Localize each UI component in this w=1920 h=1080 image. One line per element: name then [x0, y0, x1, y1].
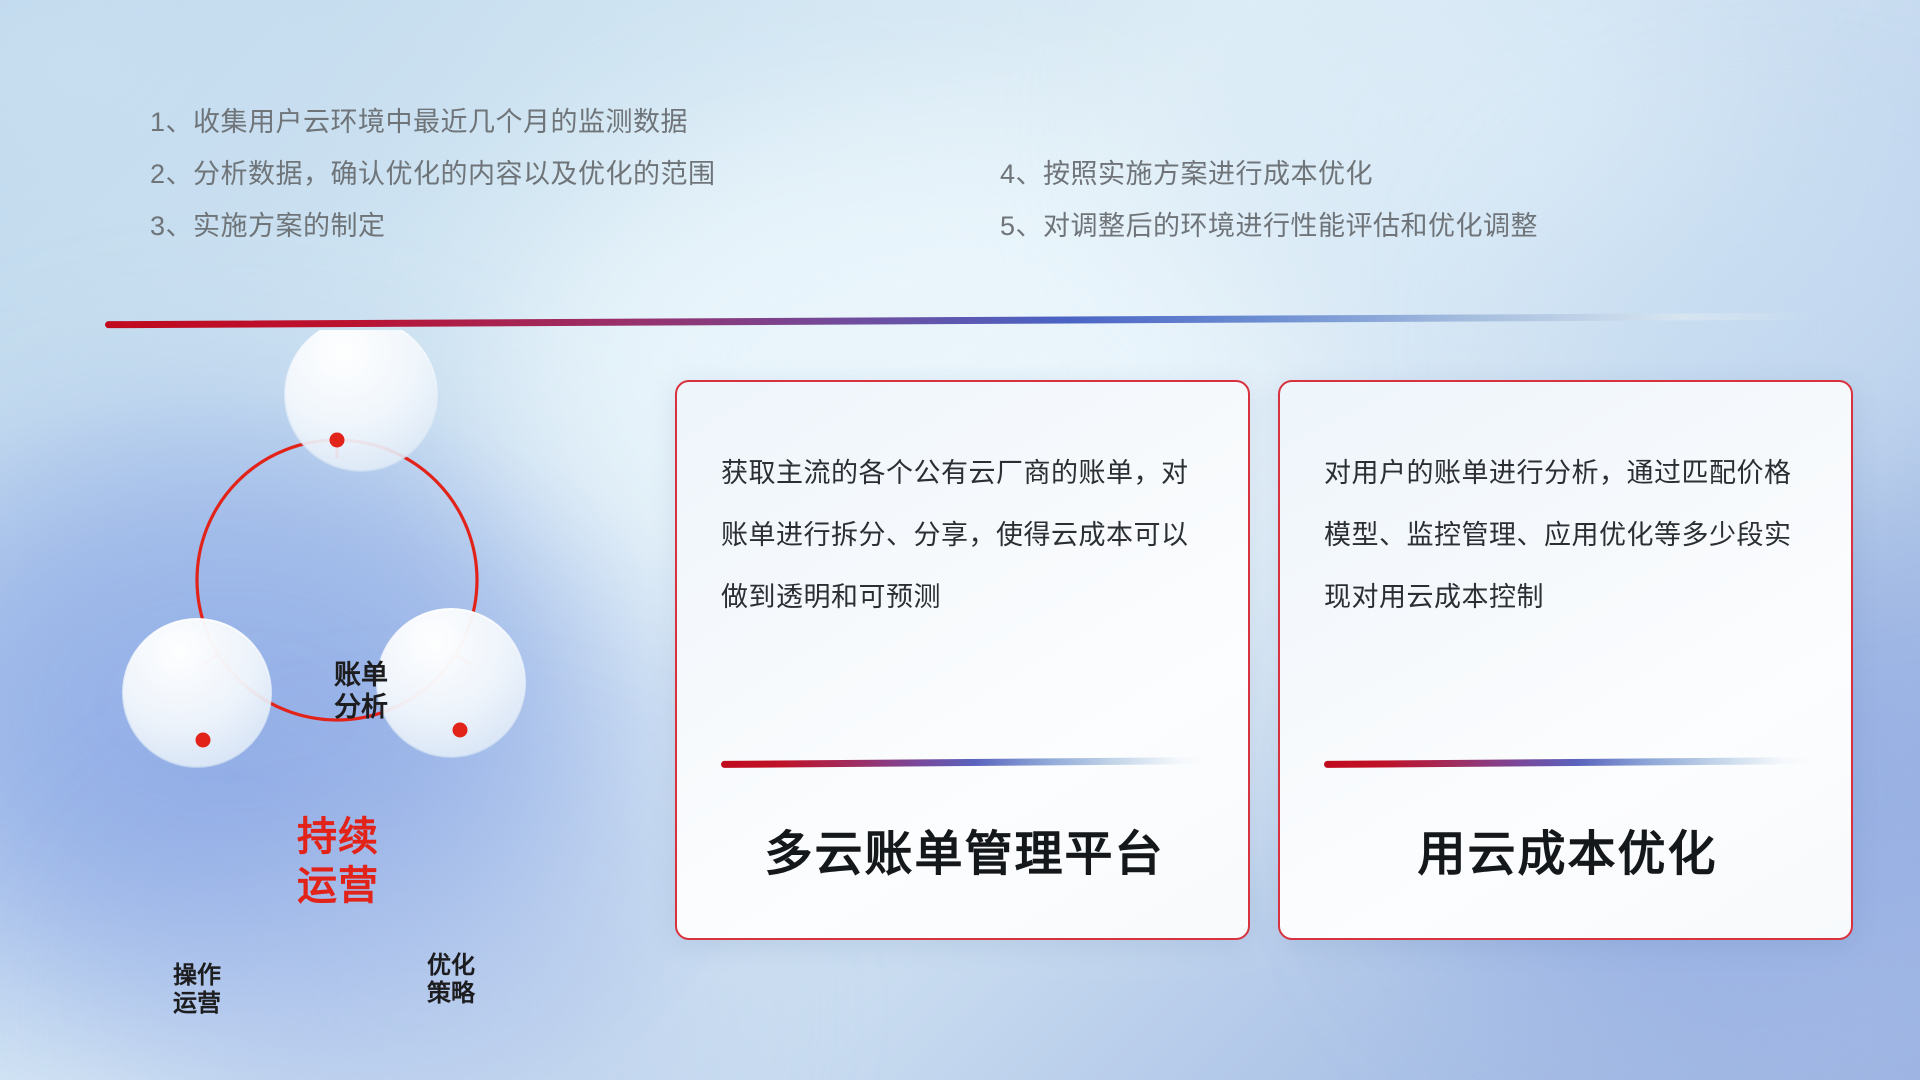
background-blob — [140, 820, 700, 1080]
node-label-strategy: 优化 策略 — [386, 952, 516, 1009]
node-circle-operation — [123, 619, 271, 767]
bullet-item-3: 3、实施方案的制定 — [150, 200, 716, 252]
card-body-text: 获取主流的各个公有云厂商的账单，对账单进行拆分、分享，使得云成本可以做到透明和可… — [721, 442, 1204, 628]
info-card-cloud-cost-optimization[interactable]: 对用户的账单进行分析，通过匹配价格模型、监控管理、应用优化等多少段实现对用云成本… — [1278, 380, 1853, 940]
card-body-text: 对用户的账单进行分析，通过匹配价格模型、监控管理、应用优化等多少段实现对用云成本… — [1324, 442, 1807, 628]
bullet-list-left: 1、收集用户云环境中最近几个月的监测数据 2、分析数据，确认优化的内容以及优化的… — [150, 96, 716, 252]
node-label-line2: 运营 — [173, 990, 221, 1017]
core-label-line2: 运营 — [297, 864, 379, 908]
info-card-multi-cloud-billing-platform[interactable]: 获取主流的各个公有云厂商的账单，对账单进行拆分、分享，使得云成本可以做到透明和可… — [675, 380, 1250, 940]
card-title: 多云账单管理平台 — [721, 814, 1208, 884]
node-dot-right — [453, 723, 468, 738]
bullet-item-4: 4、按照实施方案进行成本优化 — [1000, 148, 1538, 200]
node-dot-left — [196, 733, 211, 748]
node-label-line1: 账单 — [334, 660, 388, 690]
card-divider — [721, 757, 1208, 768]
node-label-line1: 优化 — [427, 952, 475, 979]
section-divider — [105, 313, 1815, 328]
diagram-core-label: 持续 运营 — [258, 813, 418, 911]
node-label-line2: 分析 — [334, 692, 388, 722]
diagram-svg — [90, 330, 550, 800]
slide-canvas: 1、收集用户云环境中最近几个月的监测数据 2、分析数据，确认优化的内容以及优化的… — [0, 0, 1920, 1080]
card-divider — [1324, 757, 1811, 768]
node-label-line2: 策略 — [427, 980, 475, 1007]
node-label-line1: 操作 — [173, 962, 221, 989]
bullet-item-5: 5、对调整后的环境进行性能评估和优化调整 — [1000, 200, 1538, 252]
node-label-bill-analysis: 账单 分析 — [296, 660, 426, 724]
bullet-item-1: 1、收集用户云环境中最近几个月的监测数据 — [150, 96, 716, 148]
bullet-list-right: 4、按照实施方案进行成本优化 5、对调整后的环境进行性能评估和优化调整 — [1000, 148, 1538, 252]
node-dot-top — [330, 433, 345, 448]
continuous-operation-diagram: 账单 分析 操作 运营 优化 策略 持续 运营 — [90, 330, 550, 800]
node-circle-bill-analysis — [285, 330, 437, 471]
card-title: 用云成本优化 — [1324, 814, 1811, 884]
node-label-operation: 操作 运营 — [132, 962, 262, 1019]
core-label-line1: 持续 — [297, 815, 379, 859]
bullet-item-2: 2、分析数据，确认优化的内容以及优化的范围 — [150, 148, 716, 200]
